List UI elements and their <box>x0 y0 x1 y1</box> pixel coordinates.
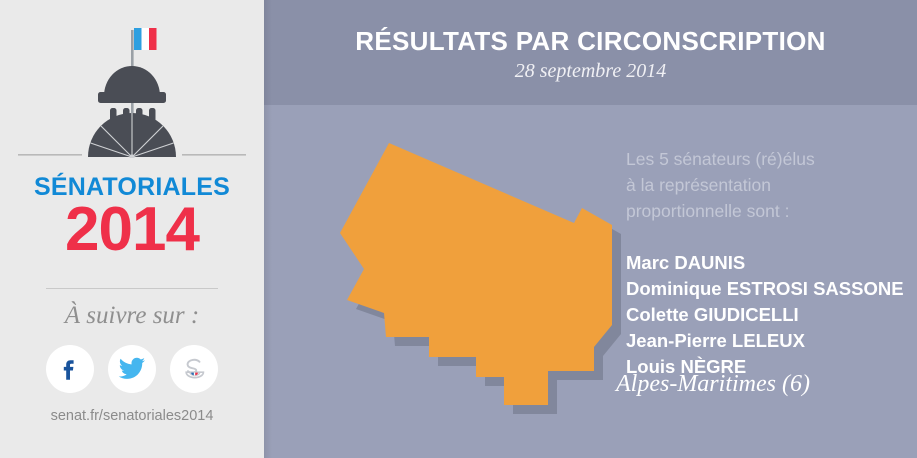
page-subtitle: 28 septembre 2014 <box>264 60 917 83</box>
twitter-icon <box>118 357 146 381</box>
senat-logo-icon <box>180 355 208 383</box>
senators-intro-text: Les 5 sénateurs (ré)élus à la représenta… <box>626 146 916 224</box>
list-item: Dominique ESTROSI SASSONE <box>626 276 916 302</box>
list-item: Marc DAUNIS <box>626 250 916 276</box>
list-item: Colette GIUDICELLI <box>626 302 916 328</box>
french-flag-icon <box>134 28 157 50</box>
brand-year: 2014 <box>0 196 264 264</box>
site-url: senat.fr/senatoriales2014 <box>0 408 264 424</box>
senat-button[interactable] <box>170 345 218 393</box>
dome-icon <box>104 66 160 96</box>
map-shape[interactable] <box>340 143 612 405</box>
page-title: RÉSULTATS PAR CIRCONSCRIPTION <box>264 26 917 57</box>
list-item: Louis NÈGRE <box>626 354 916 380</box>
senate-logo-icon <box>0 18 264 158</box>
hemicycle-icon <box>88 113 176 158</box>
social-links <box>0 345 264 393</box>
logo-rule-right <box>182 154 246 156</box>
facebook-button[interactable] <box>46 345 94 393</box>
infographic-root: Alpes-Maritimes (6) RÉSULTATS PAR CIRCON… <box>0 0 917 458</box>
header-bar: RÉSULTATS PAR CIRCONSCRIPTION 28 septemb… <box>264 0 917 105</box>
senators-panel: Les 5 sénateurs (ré)élus à la représenta… <box>626 146 916 380</box>
logo-rule-left <box>18 154 82 156</box>
facebook-icon <box>57 356 83 382</box>
sidebar-divider <box>46 288 218 289</box>
twitter-button[interactable] <box>108 345 156 393</box>
senators-list: Marc DAUNIS Dominique ESTROSI SASSONE Co… <box>626 250 916 380</box>
list-item: Jean-Pierre LELEUX <box>626 328 916 354</box>
sidebar: SÉNATORIALES 2014 À suivre sur : <box>0 0 264 458</box>
dome-base-icon <box>98 92 166 103</box>
follow-label: À suivre sur : <box>0 302 264 330</box>
alpes-maritimes-map-svg[interactable] <box>324 115 624 445</box>
